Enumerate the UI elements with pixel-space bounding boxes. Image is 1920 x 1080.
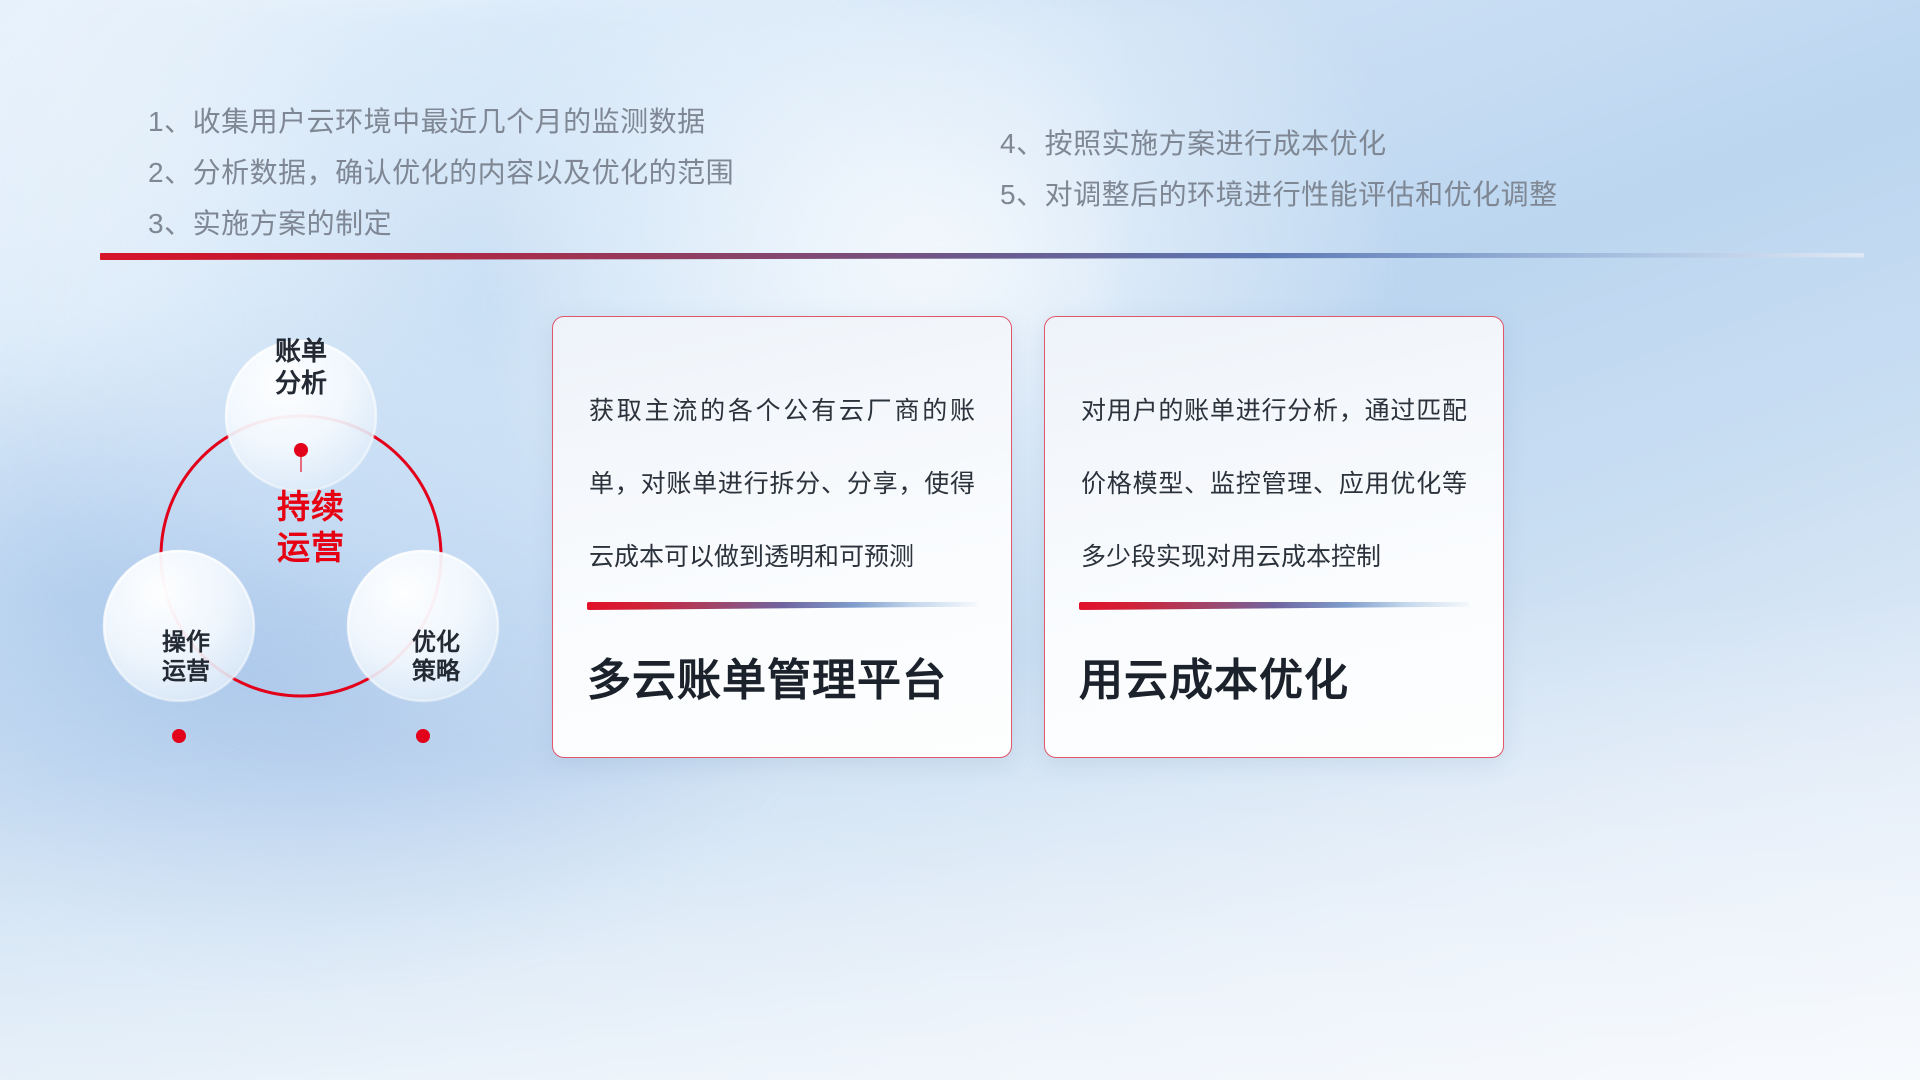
diagram-center-label: 持续 运营 xyxy=(236,486,386,569)
step-item-2: 2、分析数据，确认优化的内容以及优化的范围 xyxy=(148,147,734,198)
card-title: 用云成本优化 xyxy=(1045,657,1503,757)
bubble-label-bill-analysis: 账单 分析 xyxy=(231,336,371,399)
card-divider xyxy=(1079,602,1469,610)
step-item-3: 3、实施方案的制定 xyxy=(148,198,734,249)
card-divider xyxy=(587,602,977,610)
continuous-operation-diagram: 账单 分析 操作 运营 优化 策略 持续 运营 xyxy=(96,296,566,766)
card-body-text: 获取主流的各个公有云厂商的账单，对账单进行拆分、分享，使得云成本可以做到透明和可… xyxy=(553,317,1011,594)
card-title: 多云账单管理平台 xyxy=(553,657,1011,757)
card-multi-cloud-billing-platform: 获取主流的各个公有云厂商的账单，对账单进行拆分、分享，使得云成本可以做到透明和可… xyxy=(552,316,1012,758)
step-item-5: 5、对调整后的环境进行性能评估和优化调整 xyxy=(1000,169,1558,220)
section-divider xyxy=(100,253,1864,260)
bubble-label-operations: 操作 运营 xyxy=(116,628,256,687)
step-item-1: 1、收集用户云环境中最近几个月的监测数据 xyxy=(148,96,734,147)
bubble-label-optimization-strategy: 优化 策略 xyxy=(366,628,506,687)
connector-dot-operations xyxy=(172,729,186,743)
section-divider-bar xyxy=(100,253,1864,260)
card-body-text: 对用户的账单进行分析，通过匹配价格模型、监控管理、应用优化等多少段实现对用云成本… xyxy=(1045,317,1503,594)
card-cloud-cost-optimization: 对用户的账单进行分析，通过匹配价格模型、监控管理、应用优化等多少段实现对用云成本… xyxy=(1044,316,1504,758)
step-item-4: 4、按照实施方案进行成本优化 xyxy=(1000,118,1558,169)
connector-dot-optimization-strategy xyxy=(416,729,430,743)
steps-right-column: 4、按照实施方案进行成本优化 5、对调整后的环境进行性能评估和优化调整 xyxy=(1000,118,1558,220)
steps-left-column: 1、收集用户云环境中最近几个月的监测数据 2、分析数据，确认优化的内容以及优化的… xyxy=(148,96,734,249)
